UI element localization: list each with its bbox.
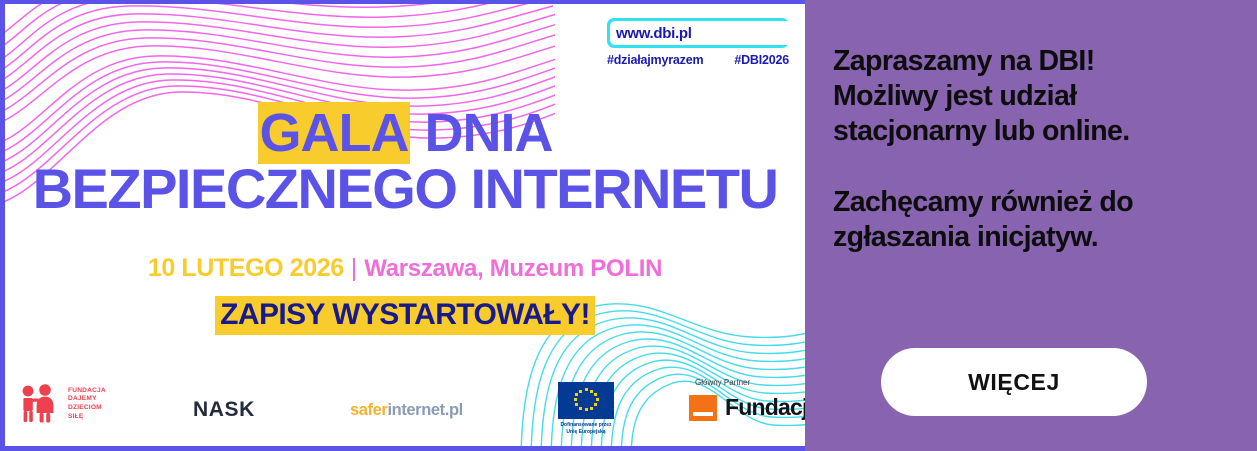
- promo-message-panel: Zapraszamy na DBI! Możliwy jest udział s…: [805, 0, 1257, 451]
- promo-p1-line-3: stacjonarny lub online.: [833, 114, 1223, 149]
- logo-saferinternet: saferinternet.pl: [350, 401, 463, 420]
- website-search-widget: #działajmyrazem #DBI2026: [607, 18, 789, 67]
- date-venue-separator: |: [351, 254, 358, 282]
- partner-logo-strip: FUNDACJA DAJEMY DZIECIOM SIŁĘ NASK safer…: [5, 368, 805, 440]
- promo-paragraph-2: Zachęcamy również do zgłaszania inicjaty…: [833, 185, 1223, 255]
- main-partner-brand: Fundacja: [689, 394, 805, 421]
- hashtag-dzialajmyrazem: #działajmyrazem: [607, 53, 703, 67]
- main-partner-label: Główny Partner: [695, 378, 805, 387]
- fdds-line-3: DZIECIOM: [68, 404, 106, 413]
- promo-p2-line-2: zgłaszania inicjatyw.: [833, 220, 1223, 255]
- fdds-line-1: FUNDACJA: [68, 387, 106, 396]
- fdds-wordmark: FUNDACJA DAJEMY DZIECIOM SIŁĘ: [68, 387, 106, 422]
- cta-container: WIĘCEJ: [881, 348, 1147, 416]
- eu-caption-line-1: Dofinansowane przez: [551, 422, 621, 429]
- promo-paragraph-1: Zapraszamy na DBI! Możliwy jest udział s…: [833, 44, 1223, 149]
- fdds-line-4: SIŁĘ: [68, 413, 106, 422]
- eu-flag-icon: [558, 382, 614, 419]
- safer-word: safer: [350, 401, 387, 419]
- eu-caption-line-2: Unię Europejską: [551, 429, 621, 436]
- event-date: 10 LUTEGO 2026: [148, 254, 344, 282]
- dbi-promo-banner: #działajmyrazem #DBI2026 GALA DNIA BEZPI…: [0, 0, 1257, 451]
- main-partner-name: Fundacja: [725, 394, 805, 421]
- headline-line-2: BEZPIECZNEGO INTERNETU: [5, 163, 805, 216]
- logo-main-partner: Główny Partner Fundacja: [689, 378, 805, 421]
- event-date-venue-row: 10 LUTEGO 2026|Warszawa, Muzeum POLIN: [5, 254, 805, 283]
- logo-fdds: FUNDACJA DAJEMY DZIECIOM SIŁĘ: [15, 384, 106, 424]
- search-input[interactable]: [610, 21, 805, 45]
- promo-p2-line-1: Zachęcamy również do: [833, 185, 1223, 220]
- headline-line-1: GALA DNIA: [5, 108, 805, 159]
- eu-funding-caption: Dofinansowane przez Unię Europejską: [551, 422, 621, 436]
- headline-gala-highlight: GALA: [258, 102, 411, 164]
- logo-european-union: Dofinansowane przez Unię Europejską: [551, 382, 621, 436]
- headline-dnia: DNIA: [410, 103, 552, 163]
- orange-book-icon: [689, 395, 717, 421]
- event-poster-panel: #działajmyrazem #DBI2026 GALA DNIA BEZPI…: [0, 0, 805, 451]
- more-info-button[interactable]: WIĘCEJ: [881, 348, 1147, 416]
- signup-status-badge: ZAPISY WYSTARTOWAŁY!: [215, 296, 595, 335]
- signup-status-row: ZAPISY WYSTARTOWAŁY!: [5, 296, 805, 335]
- event-headline: GALA DNIA BEZPIECZNEGO INTERNETU: [5, 108, 805, 215]
- search-bar[interactable]: [607, 18, 789, 48]
- two-children-icon: [15, 384, 63, 424]
- promo-p1-line-2: Możliwy jest udział: [833, 79, 1223, 114]
- fdds-line-2: DAJEMY: [68, 395, 106, 404]
- hashtag-row: #działajmyrazem #DBI2026: [607, 53, 789, 67]
- event-venue: Warszawa, Muzeum POLIN: [364, 255, 662, 282]
- hashtag-dbi2026: #DBI2026: [734, 53, 789, 67]
- internet-word: internet.pl: [387, 401, 462, 419]
- promo-p1-line-1: Zapraszamy na DBI!: [833, 44, 1223, 79]
- logo-nask: NASK: [193, 398, 255, 422]
